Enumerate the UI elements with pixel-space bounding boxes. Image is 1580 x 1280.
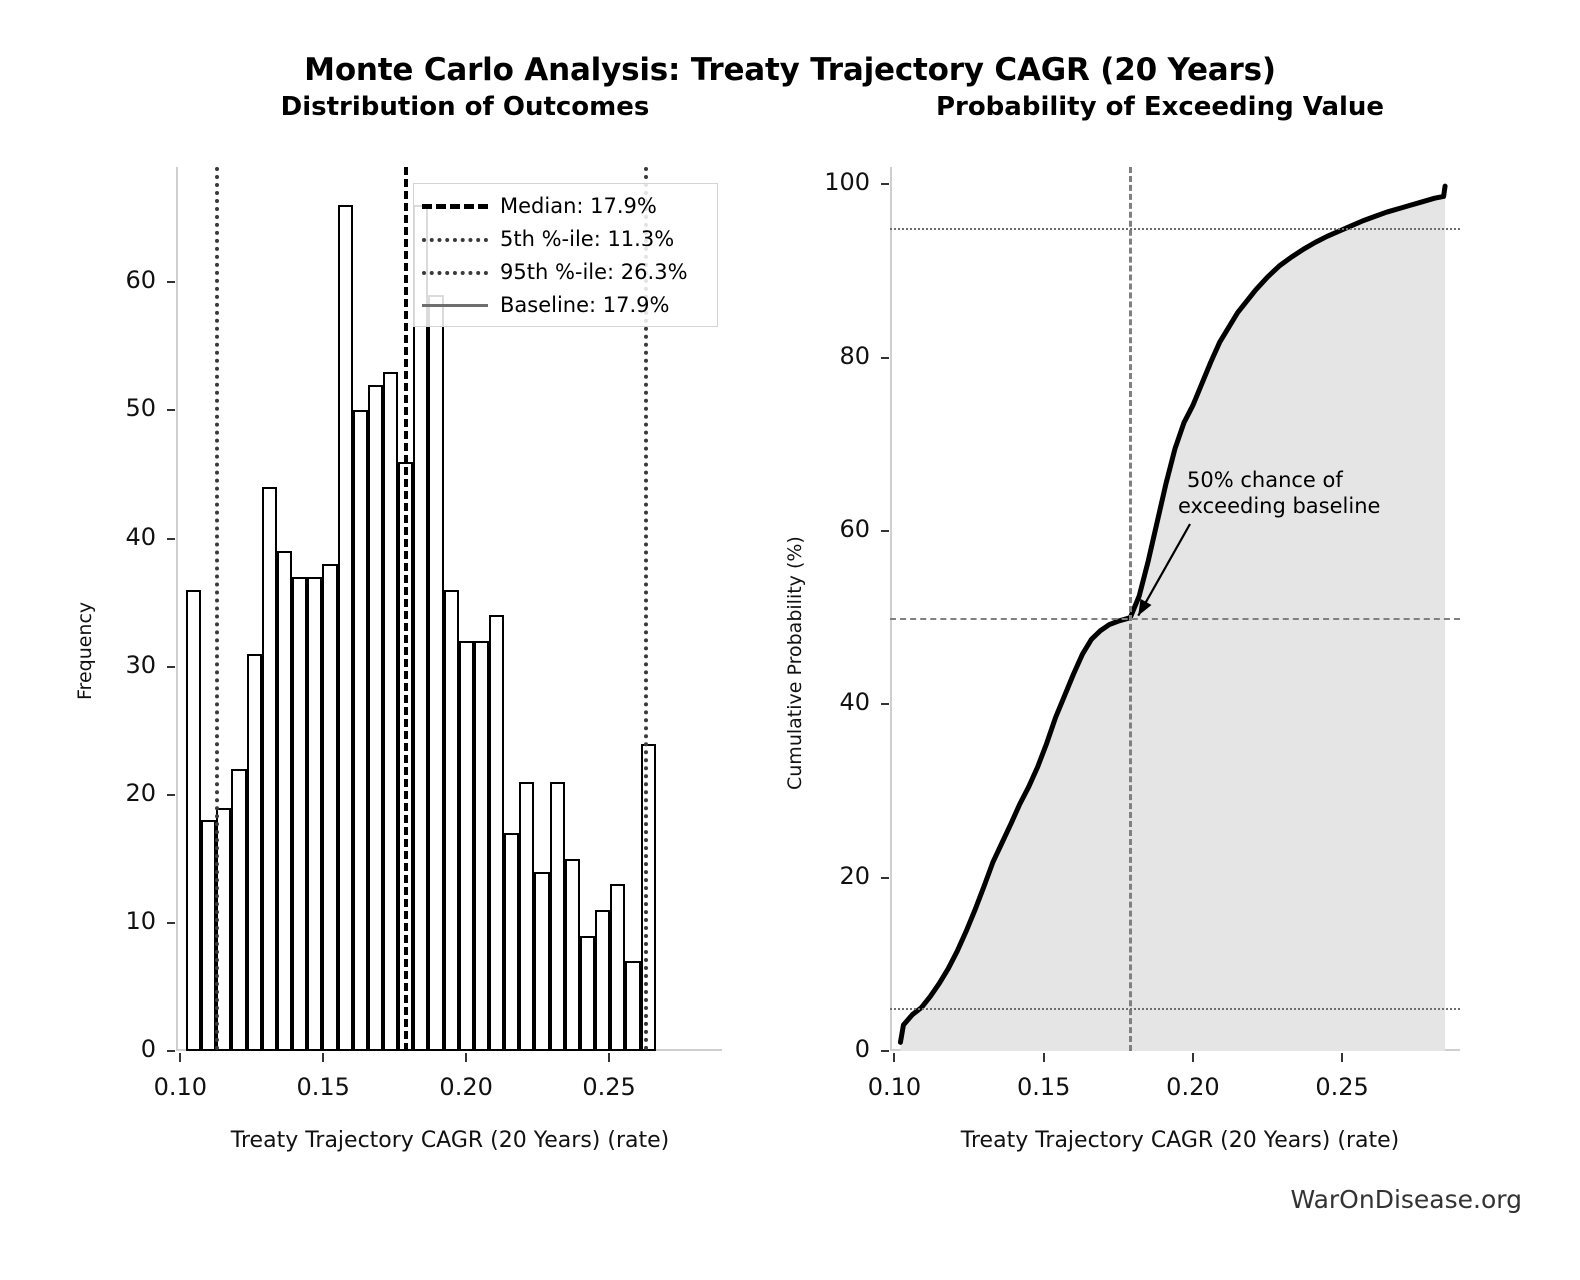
left-y-tick-label: 60 (46, 266, 156, 294)
histogram-legend[interactable]: Median: 17.9% 5th %-ile: 11.3% 95th %-il… (413, 183, 718, 327)
histogram-marker-p5 (215, 167, 219, 1051)
cdf-annotation-line1: 50% chance of (1187, 468, 1343, 494)
histogram-bar (519, 782, 534, 1051)
right-y-tick-label: 100 (760, 168, 870, 196)
left-y-tick-mark (167, 409, 175, 411)
histogram-bar (459, 641, 474, 1051)
left-x-tick-mark (322, 1053, 324, 1062)
right-x-tick-mark (893, 1053, 895, 1062)
legend-swatch-p95-dotted-line (422, 271, 488, 275)
histogram-bar (428, 295, 443, 1051)
left-x-tick-label: 0.10 (120, 1073, 240, 1101)
left-y-tick-label: 10 (46, 907, 156, 935)
histogram-bar (322, 564, 337, 1051)
right-x-tick-label: 0.15 (984, 1073, 1104, 1101)
cdf-marker-p95-hline (890, 228, 1460, 230)
left-axis-spine-y (176, 167, 178, 1051)
legend-swatch-median-dashed-line (422, 204, 488, 209)
right-y-tick-label: 60 (760, 515, 870, 543)
right-y-tick-mark (881, 530, 889, 532)
legend-swatch-baseline-solid-line (422, 304, 488, 307)
left-x-tick-mark (465, 1053, 467, 1062)
cdf-panel: Cumulative Probability (%) 020406080100 … (760, 0, 1580, 1180)
left-y-tick-mark (167, 281, 175, 283)
right-y-tick-label: 80 (760, 342, 870, 370)
right-y-tick-mark (881, 183, 889, 185)
right-y-tick-label: 40 (760, 688, 870, 716)
footer-watermark: WarOnDisease.org (1290, 1185, 1522, 1214)
right-x-axis-label: Treaty Trajectory CAGR (20 Years) (rate) (830, 1128, 1530, 1153)
left-y-tick-mark (167, 538, 175, 540)
left-x-axis-label: Treaty Trajectory CAGR (20 Years) (rate) (100, 1128, 800, 1153)
histogram-bar (307, 577, 322, 1051)
cdf-marker-p50-hline (890, 618, 1460, 620)
right-x-tick-mark (1192, 1053, 1194, 1062)
legend-label-median: Median: 17.9% (500, 196, 657, 217)
figure-canvas: Monte Carlo Analysis: Treaty Trajectory … (0, 0, 1580, 1280)
legend-label-p5: 5th %-ile: 11.3% (500, 229, 674, 250)
histogram-bar (368, 385, 383, 1051)
histogram-bar (610, 884, 625, 1051)
histogram-bar (550, 782, 565, 1051)
histogram-bar (625, 961, 640, 1051)
left-y-tick-label: 40 (46, 523, 156, 551)
histogram-bar (277, 551, 292, 1051)
histogram-bar (201, 820, 216, 1051)
cdf-curve (760, 0, 1580, 1180)
histogram-bar (247, 654, 262, 1051)
histogram-bar (444, 590, 459, 1051)
right-x-tick-mark (1043, 1053, 1045, 1062)
left-x-tick-mark (608, 1053, 610, 1062)
histogram-bar (353, 410, 368, 1051)
histogram-panel: Frequency 0102030405060 0.100.150.200.25… (0, 0, 760, 1180)
legend-label-baseline: Baseline: 17.9% (500, 295, 670, 316)
left-x-tick-label: 0.20 (406, 1073, 526, 1101)
histogram-bar (262, 487, 277, 1051)
histogram-bar (489, 615, 504, 1051)
left-x-tick-label: 0.25 (549, 1073, 669, 1101)
right-x-tick-mark (1341, 1053, 1343, 1062)
legend-item-median: Median: 17.9% (422, 190, 709, 223)
left-y-tick-mark (167, 794, 175, 796)
right-y-tick-mark (881, 877, 889, 879)
right-y-tick-label: 0 (760, 1035, 870, 1063)
legend-swatch-p5-dotted-line (422, 238, 488, 242)
cdf-annotation-line2: exceeding baseline (1178, 494, 1380, 520)
legend-label-p95: 95th %-ile: 26.3% (500, 262, 688, 283)
histogram-bar (534, 872, 549, 1051)
histogram-bar (413, 205, 428, 1051)
right-y-tick-mark (881, 357, 889, 359)
left-y-tick-label: 50 (46, 394, 156, 422)
histogram-bar (580, 936, 595, 1051)
histogram-marker-median (404, 167, 408, 1051)
left-y-tick-mark (167, 922, 175, 924)
histogram-bar (565, 859, 580, 1051)
histogram-bar (292, 577, 307, 1051)
left-x-tick-mark (179, 1053, 181, 1062)
legend-item-p5: 5th %-ile: 11.3% (422, 223, 709, 256)
left-y-tick-label: 0 (46, 1035, 156, 1063)
histogram-bar (383, 372, 398, 1051)
left-y-tick-mark (167, 666, 175, 668)
legend-item-baseline: Baseline: 17.9% (422, 289, 709, 322)
right-x-tick-label: 0.20 (1133, 1073, 1253, 1101)
histogram-bar (595, 910, 610, 1051)
left-y-tick-mark (167, 1050, 175, 1052)
cdf-marker-p5-hline (890, 1008, 1460, 1010)
left-y-tick-label: 20 (46, 779, 156, 807)
cdf-marker-median-vline (1129, 167, 1132, 1051)
histogram-bar (504, 833, 519, 1051)
histogram-bar (338, 205, 353, 1051)
left-y-tick-label: 30 (46, 651, 156, 679)
histogram-bar (474, 641, 489, 1051)
right-x-tick-label: 0.10 (834, 1073, 954, 1101)
histogram-bar (186, 590, 201, 1051)
left-x-tick-label: 0.15 (263, 1073, 383, 1101)
right-y-tick-mark (881, 1050, 889, 1052)
legend-item-p95: 95th %-ile: 26.3% (422, 256, 709, 289)
histogram-bar (231, 769, 246, 1051)
right-x-tick-label: 0.25 (1282, 1073, 1402, 1101)
right-y-tick-mark (881, 703, 889, 705)
right-y-tick-label: 20 (760, 862, 870, 890)
